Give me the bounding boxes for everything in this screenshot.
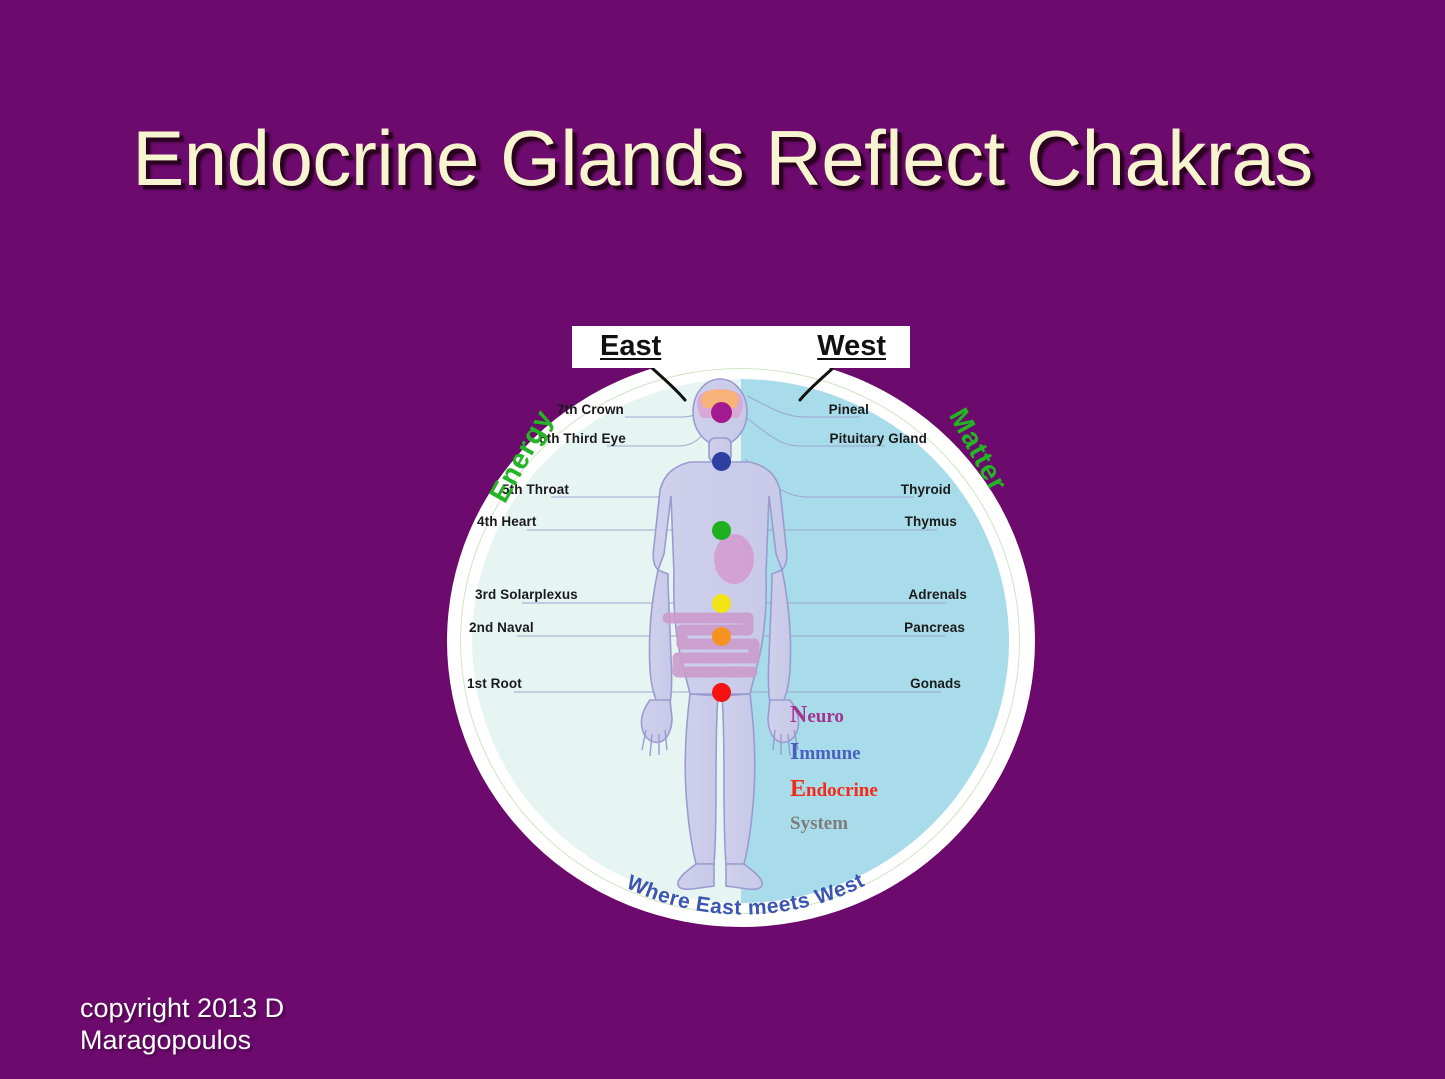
east-label-1st-root: 1st Root xyxy=(467,676,522,691)
nies-cap-e: E xyxy=(790,776,806,802)
nies-line-immune: Immune xyxy=(790,734,878,771)
chakra-dot-root xyxy=(712,683,731,702)
chakra-dot-naval xyxy=(712,627,731,646)
nies-acronym-block: Neuro Immune Endocrine System xyxy=(790,697,878,838)
chakra-endocrine-diagram: East West Energy Matter xyxy=(447,322,1039,930)
nies-line-endocrine: Endocrine xyxy=(790,771,878,808)
nies-cap-i: I xyxy=(790,739,799,765)
east-label-3rd-solarplexus: 3rd Solarplexus xyxy=(475,587,578,602)
west-label-thymus: Thymus xyxy=(905,514,957,529)
west-label-gonads: Gonads xyxy=(910,676,961,691)
nies-line-neuro: Neuro xyxy=(790,697,878,734)
slide-canvas: Endocrine Glands Reflect Chakras East We… xyxy=(0,0,1445,1079)
chakra-dot-solarplexus xyxy=(712,594,731,613)
nies-cap-n: N xyxy=(790,702,807,728)
east-header-label: East xyxy=(600,330,661,363)
west-label-thyroid: Thyroid xyxy=(901,482,951,497)
west-header-label: West xyxy=(817,330,886,363)
east-west-header-box: East West xyxy=(572,326,910,368)
chakra-dot-heart xyxy=(712,521,731,540)
nies-rest-immune: mmune xyxy=(799,743,860,764)
nies-rest-endocrine: ndocrine xyxy=(806,780,878,801)
nies-rest-neuro: euro xyxy=(807,706,844,727)
copyright-notice: copyright 2013 D Maragopoulos xyxy=(80,992,380,1057)
page-title: Endocrine Glands Reflect Chakras xyxy=(0,118,1445,200)
west-label-adrenals: Adrenals xyxy=(908,587,967,602)
east-label-4th-heart: 4th Heart xyxy=(477,514,536,529)
east-label-2nd-naval: 2nd Naval xyxy=(469,620,534,635)
nies-line-system: System xyxy=(790,809,878,838)
west-label-pancreas: Pancreas xyxy=(904,620,965,635)
